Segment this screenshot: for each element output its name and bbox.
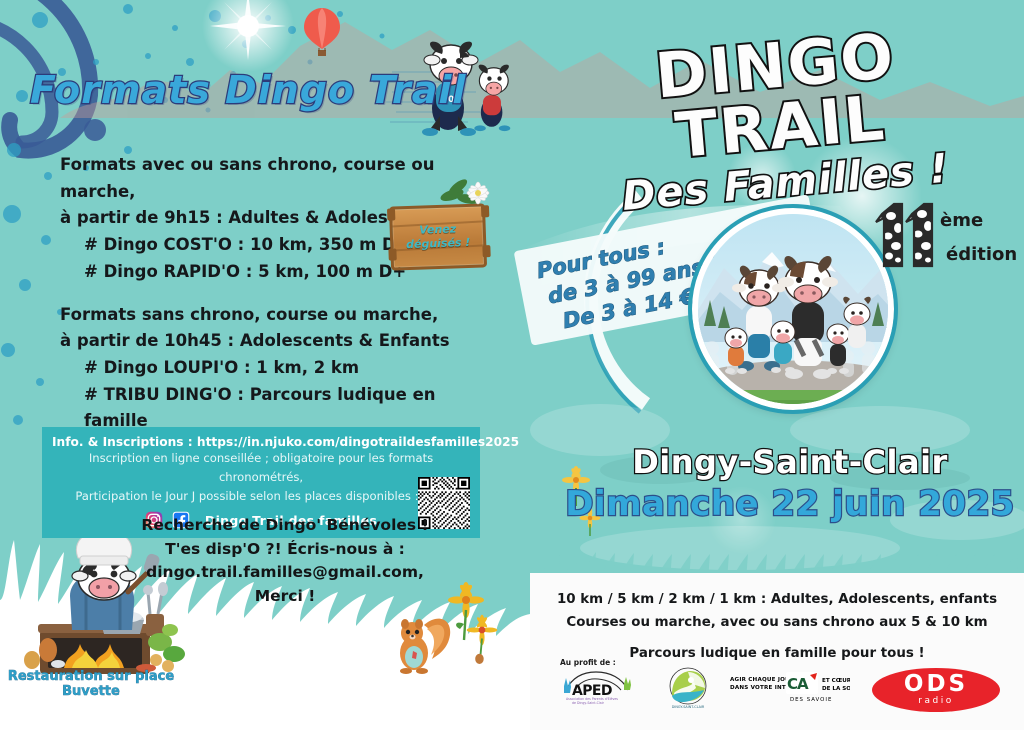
svg-text:CA: CA (787, 675, 809, 693)
svg-text:DES SAVOIE: DES SAVOIE (790, 697, 832, 703)
event-place: Dingy-Saint-Clair (560, 443, 1020, 481)
squirrel-icon (400, 619, 450, 674)
svg-text:ET CŒUR: ET CŒUR (822, 678, 850, 684)
volunteers-line2: T'es disp'O ?! Écris-nous à : (120, 538, 450, 562)
block2-line2: à partir de 10h45 : Adolescents & Enfant… (60, 328, 500, 355)
ods-name: ODS (904, 674, 968, 695)
distances-line2: Courses ou marche, avec ou sans chrono a… (540, 611, 1014, 634)
restauration-caption: Restauration sur place Buvette (6, 670, 176, 700)
restauration-line2: Buvette (6, 685, 176, 700)
block2-line1: Formats sans chrono, course ou marche, (60, 302, 500, 329)
edition-word: édition (940, 238, 1017, 272)
formats-body: Formats avec ou sans chrono, course ou m… (60, 152, 500, 435)
sponsor-ods-radio: ODS radio (872, 668, 1000, 714)
info-heading[interactable]: Info. & Inscriptions : https://in.njuko.… (52, 435, 470, 449)
wooden-sign: Venez déguisés ! (390, 205, 486, 269)
block2-item1: # Dingo LOUPI'O : 1 km, 2 km (60, 355, 500, 382)
info-note1: Inscription en ligne conseillée ; obliga… (52, 449, 470, 487)
hot-air-balloon-icon (304, 8, 340, 56)
volunteers-email[interactable]: dingo.trail.familles@gmail.com, (120, 561, 450, 585)
edition-suffix: ème (940, 204, 1017, 238)
edelweiss-flower-icon (442, 179, 504, 231)
edition-text: ème édition (940, 204, 1017, 272)
edition-number (868, 198, 942, 270)
flower-icon (448, 582, 484, 640)
svg-text:DE LA SOCIÉTÉ: DE LA SOCIÉTÉ (822, 684, 850, 692)
ods-logo: ODS radio (872, 668, 1000, 712)
sponsor-town: DINGY-SAINT-CLAIR (660, 666, 716, 710)
volunteers-line1: Recherche de Dingo' Bénévoles ! (120, 514, 450, 538)
volunteers-thanks: Merci ! (120, 585, 450, 609)
info-note2: Participation le Jour J possible selon l… (52, 487, 470, 506)
spacer (60, 286, 500, 302)
ods-sub: radio (918, 697, 953, 706)
distances-line1: 10 km / 5 km / 2 km / 1 km : Adultes, Ad… (540, 588, 1014, 611)
cow-family-running-photo (692, 208, 894, 410)
ca-slogan-line1: AGIR CHAQUE JOUR (730, 677, 795, 683)
volunteers-block: Recherche de Dingo' Bénévoles ! T'es dis… (120, 514, 450, 608)
poster-root: 10 (0, 0, 1024, 730)
svg-text:DINGY-SAINT-CLAIR: DINGY-SAINT-CLAIR (672, 705, 705, 709)
event-date: Dimanche 22 juin 2025 (560, 484, 1020, 524)
distances-block: 10 km / 5 km / 2 km / 1 km : Adultes, Ad… (540, 588, 1014, 665)
sponsors-label: Au profit de : (560, 658, 616, 667)
main-title: DINGO TRAIL Des Familles ! (539, 16, 1022, 226)
svg-text:de Dingy-Saint-Clair: de Dingy-Saint-Clair (572, 701, 605, 705)
restauration-line1: Restauration sur place (6, 670, 176, 685)
flower-icon (467, 615, 498, 664)
block1-line1: Formats avec ou sans chrono, course ou m… (60, 152, 500, 205)
sponsor-credit-agricole: AGIR CHAQUE JOUR DANS VOTRE INTÉRÊT CA E… (730, 672, 850, 704)
sun-burst-icon (202, 0, 294, 72)
sign-line2: déguisés ! (406, 236, 471, 252)
running-cow-icon (474, 65, 510, 132)
sponsor-aped: APED Association des Parents d'Elèves de… (558, 668, 636, 706)
formats-section-title: Formats Dingo Trail (30, 68, 466, 112)
edition-badge: ème édition (868, 196, 1018, 282)
